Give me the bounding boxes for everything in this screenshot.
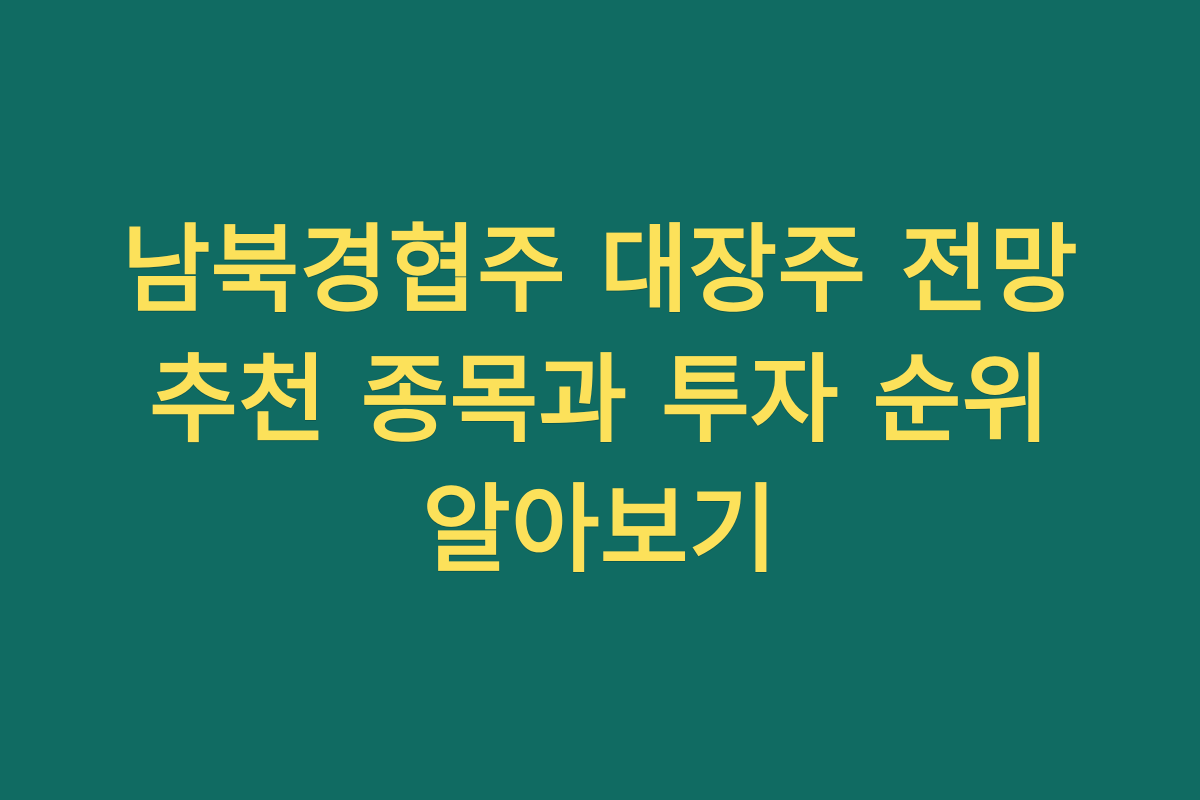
headline-line-3: 알아보기 [422, 465, 777, 595]
headline-block: 남북경협주 대장주 전망 추천 종목과 투자 순위 알아보기 [40, 205, 1160, 595]
headline-line-2: 추천 종목과 투자 순위 [149, 335, 1050, 465]
headline-line-1: 남북경협주 대장주 전망 [122, 205, 1078, 335]
thumbnail-banner: 남북경협주 대장주 전망 추천 종목과 투자 순위 알아보기 [0, 0, 1200, 800]
